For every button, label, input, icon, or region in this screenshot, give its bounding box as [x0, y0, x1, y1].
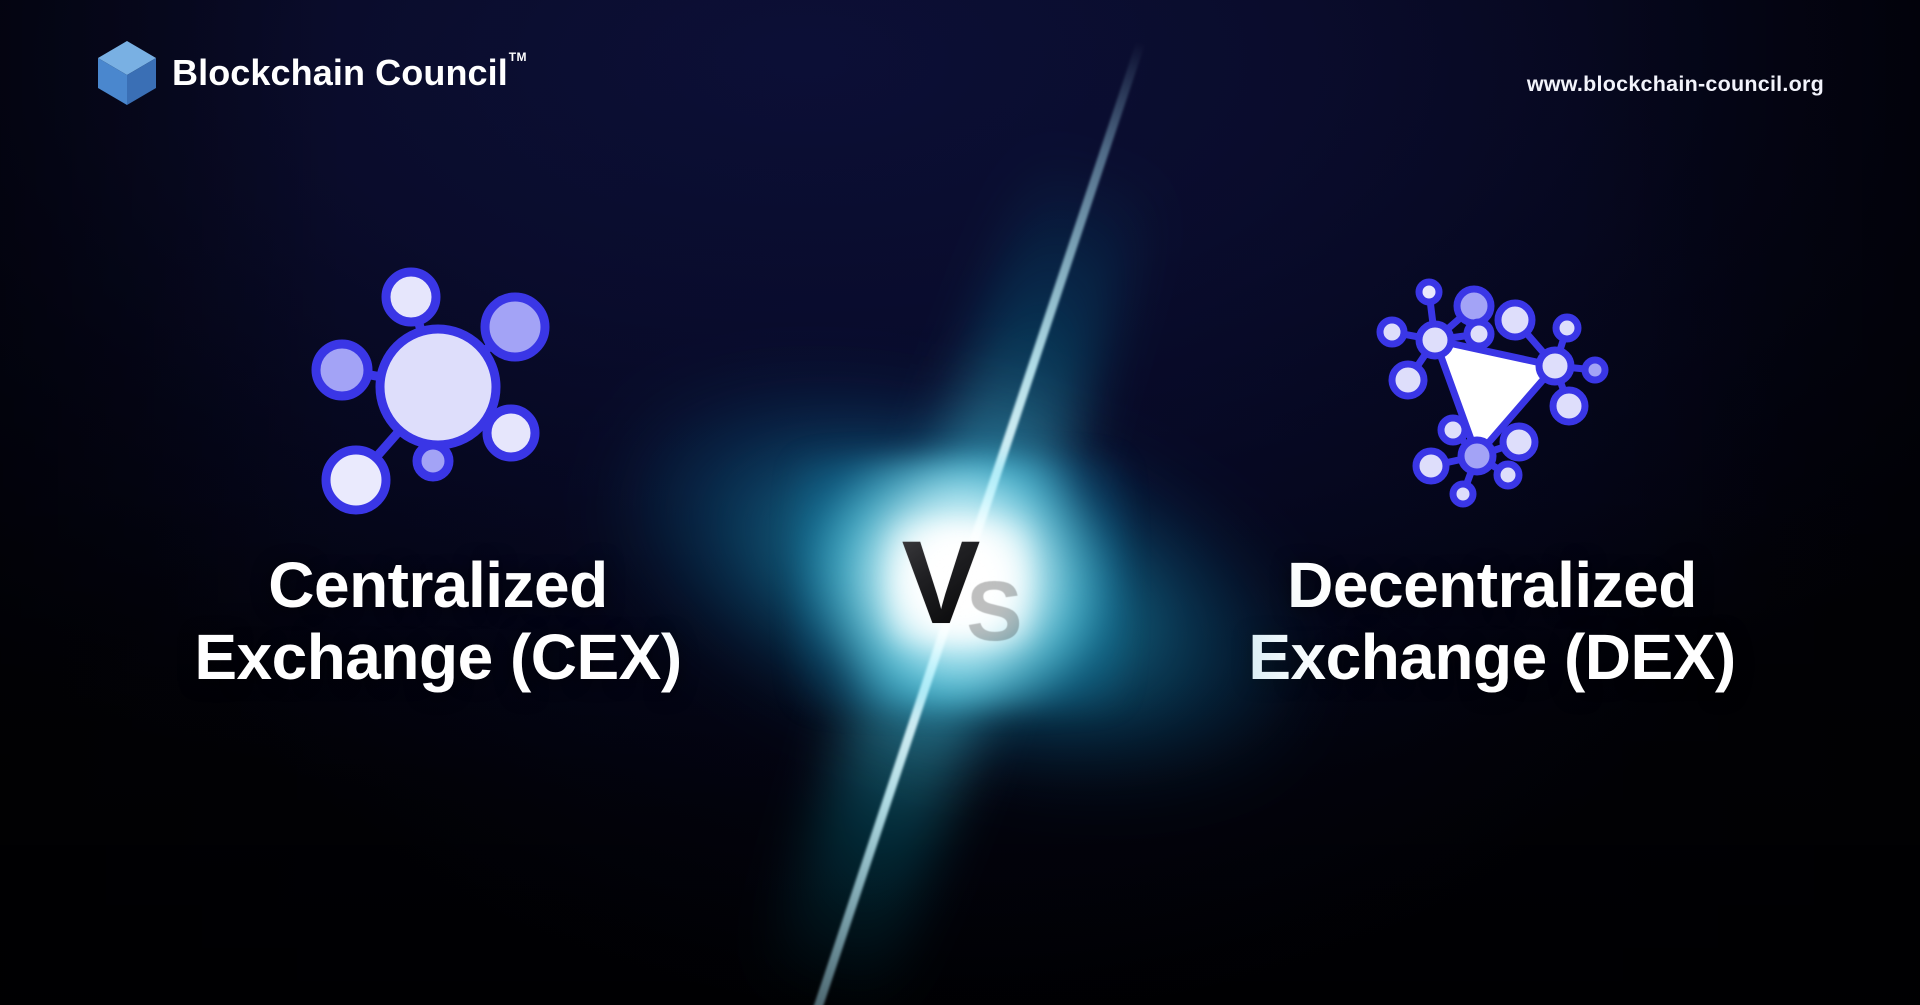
cex-panel: Centralized Exchange (CEX) — [88, 250, 788, 693]
cex-title-line2: Exchange (CEX) — [88, 622, 788, 694]
brand-name: Blockchain Council — [172, 52, 508, 93]
cex-title: Centralized Exchange (CEX) — [88, 550, 788, 693]
dex-title: Decentralized Exchange (DEX) — [1142, 550, 1842, 693]
decentralized-network-icon — [1367, 270, 1617, 520]
cex-icon-slot — [88, 250, 788, 540]
brand-logo[interactable]: Blockchain Council TM — [96, 40, 508, 106]
poster-canvas: Blockchain Council TM www.blockchain-cou… — [0, 0, 1920, 1005]
dex-icon-slot — [1142, 250, 1842, 540]
dex-title-line1: Decentralized — [1142, 550, 1842, 622]
trademark-symbol: TM — [509, 51, 527, 63]
centralized-network-icon — [308, 265, 568, 525]
website-url[interactable]: www.blockchain-council.org — [1527, 72, 1824, 97]
brand-name-wrap: Blockchain Council TM — [172, 55, 508, 91]
cube-icon — [96, 40, 158, 106]
dex-title-line2: Exchange (DEX) — [1142, 622, 1842, 694]
dex-panel: Decentralized Exchange (DEX) — [1142, 250, 1842, 693]
cex-title-line1: Centralized — [88, 550, 788, 622]
